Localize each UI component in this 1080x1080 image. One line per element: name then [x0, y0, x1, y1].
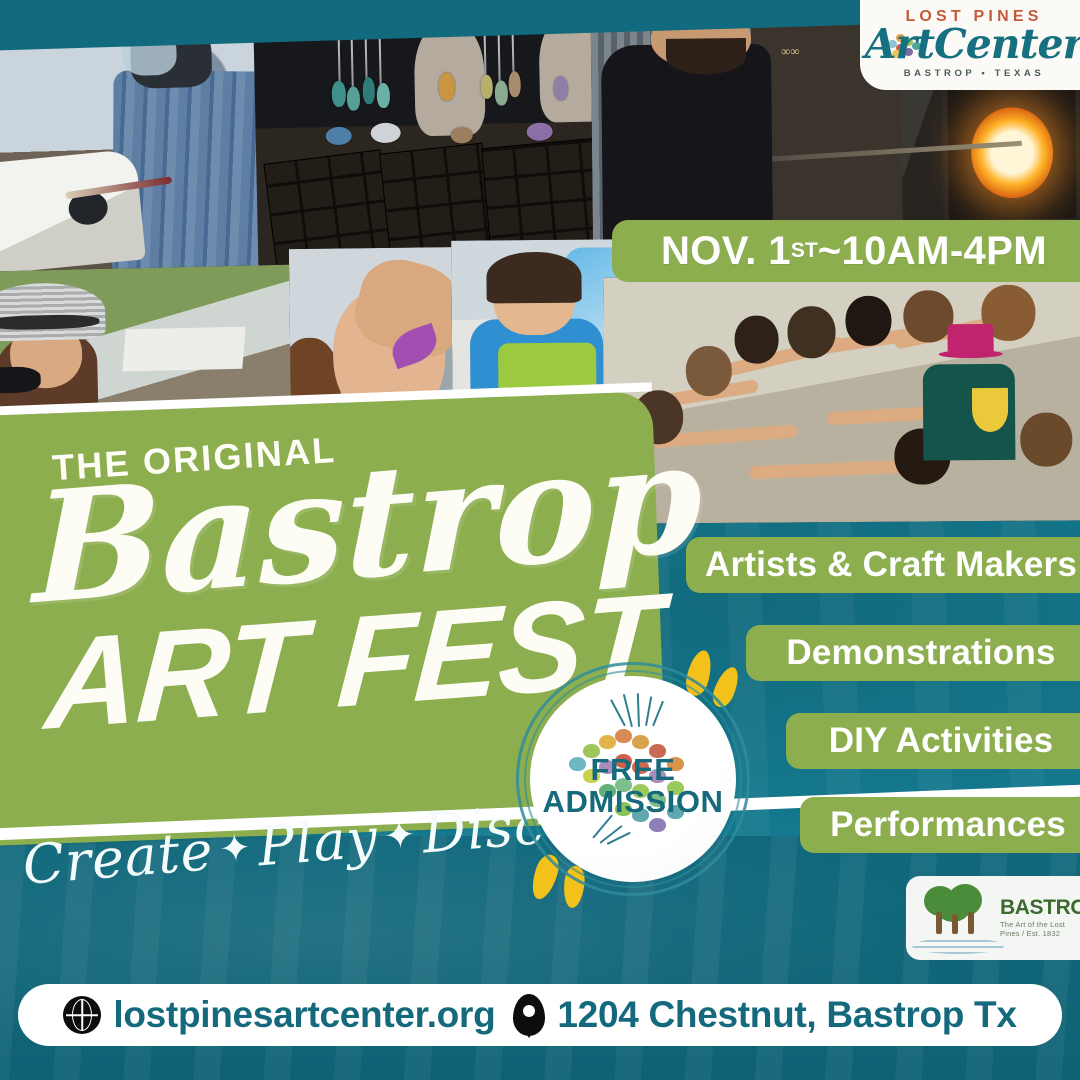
photo-wood-turner [0, 14, 265, 273]
address-item[interactable]: 1204 Chestnut, Bastrop Tx [513, 994, 1016, 1036]
feature-pill-artists-craft-makers[interactable]: Artists & Craft Makers [686, 537, 1080, 593]
tagline-star-1: ✦ [211, 825, 259, 872]
lost-pines-art-center-logo: LOST PINES ArtCenter BASTROP • TEXAS [860, 0, 1080, 90]
date-ordinal: ST [791, 239, 818, 263]
badge-line-free: FREE [530, 754, 736, 786]
free-admission-badge: FREE ADMISSION [516, 662, 750, 896]
feature-pill-performances[interactable]: Performances [800, 797, 1080, 853]
tagline-star-2: ✦ [376, 812, 424, 859]
sponsor-logo-name: BASTROPTX [1000, 896, 1080, 920]
badge-disc: FREE ADMISSION [530, 676, 736, 882]
feature-pill-label: Performances [830, 805, 1066, 845]
date-text: NOV. 1 [661, 229, 791, 274]
sponsor-name-dark: BASTROP [1000, 896, 1080, 919]
feature-pill-label: Artists & Craft Makers [705, 545, 1077, 585]
address-text: 1204 Chestnut, Bastrop Tx [557, 994, 1016, 1036]
badge-line-admission: ADMISSION [530, 786, 736, 818]
event-poster: HOT ∞∞ [0, 0, 1080, 1080]
feature-pill-label: DIY Activities [829, 721, 1054, 761]
bastrop-tx-sponsor-logo: BASTROPTX The Art of the Lost Pines / Es… [906, 876, 1080, 960]
footer-contact-bar: lostpinesartcenter.org 1204 Chestnut, Ba… [18, 984, 1062, 1046]
logo-bottom-line: BASTROP • TEXAS [860, 68, 1080, 79]
heart-trees-icon [920, 884, 996, 940]
globe-icon [63, 996, 101, 1034]
website-text: lostpinesartcenter.org [113, 994, 495, 1036]
date-separator: ~ [818, 229, 842, 274]
tagline-word-play: Play [255, 806, 380, 878]
water-lines-decoration [912, 938, 1004, 954]
date-time-banner: NOV. 1ST ~ 10AM-4PM [612, 220, 1080, 282]
feature-pill-label: Demonstrations [786, 633, 1055, 673]
feature-pill-diy-activities[interactable]: DIY Activities [786, 713, 1080, 769]
map-pin-icon [513, 994, 545, 1036]
sponsor-logo-tagline: The Art of the Lost Pines / Est. 1832 [1000, 920, 1080, 938]
website-link[interactable]: lostpinesartcenter.org [63, 994, 495, 1036]
logo-main-text: ArtCenter [860, 20, 1080, 68]
feature-pill-demonstrations[interactable]: Demonstrations [746, 625, 1080, 681]
time-text: 10AM-4PM [842, 229, 1047, 274]
